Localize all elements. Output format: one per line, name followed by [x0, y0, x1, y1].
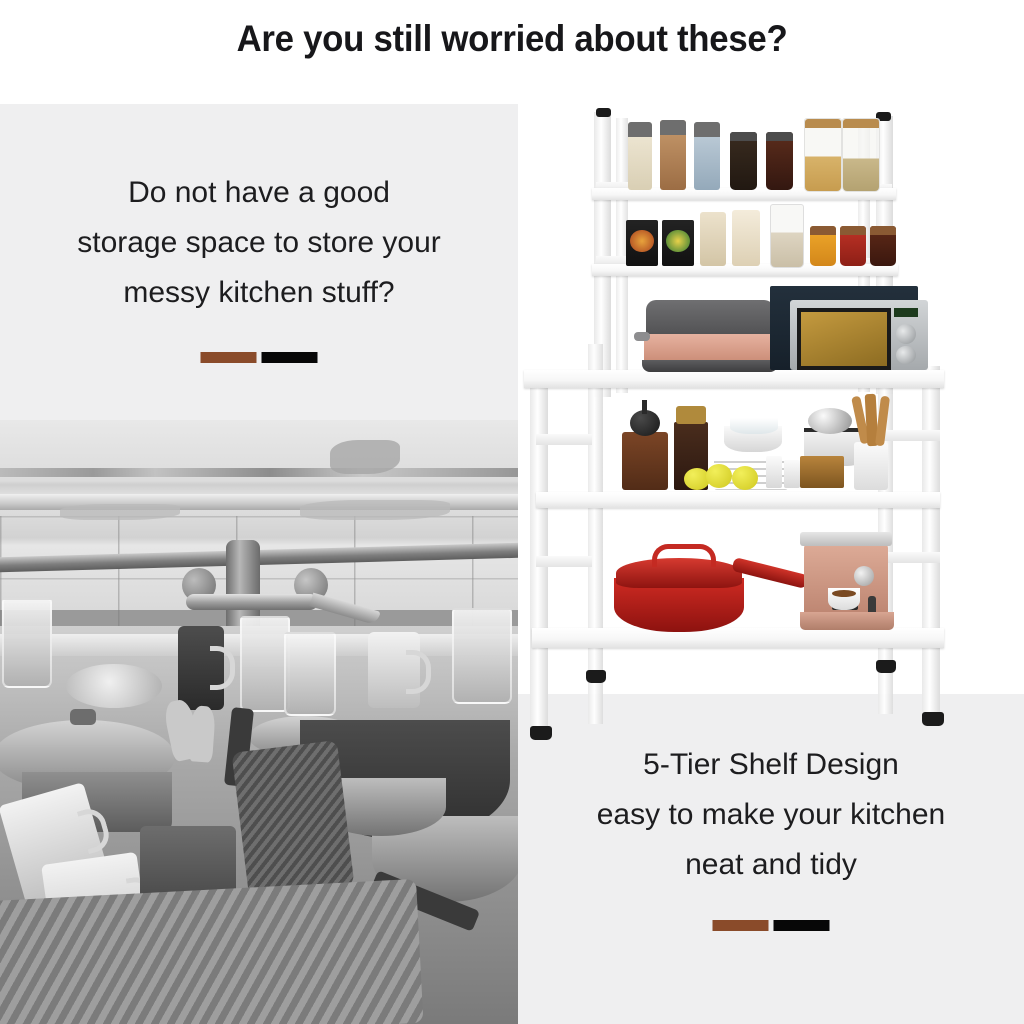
- jam-jar-red: [840, 226, 866, 266]
- canister-cocoa: [700, 212, 726, 266]
- glass-jar-pasta: [804, 118, 842, 192]
- canister-cream: [732, 210, 760, 266]
- jar-wooden-lid: [805, 119, 841, 128]
- canister-blue-gray: [694, 122, 720, 190]
- frosted-glass: [284, 632, 336, 716]
- grinder-crank-shaft: [642, 400, 647, 414]
- jam-jar-orange: [810, 226, 836, 266]
- canister-oatmeal-cream: [628, 122, 652, 190]
- problem-copy: Do not have a good storage space to stor…: [0, 168, 518, 318]
- lid-knob: [70, 709, 96, 725]
- microwave-display: [894, 308, 918, 317]
- solution-copy: 5-Tier Shelf Design easy to make your ki…: [518, 740, 1024, 890]
- jar-dark-tea: [730, 132, 757, 190]
- dark-mug: [178, 626, 224, 710]
- side-rail-left-lower: [536, 556, 592, 567]
- frame-post-rear-left: [588, 344, 603, 724]
- utensil-crock: [854, 442, 888, 490]
- drinking-glass: [240, 616, 290, 712]
- problem-divider: [201, 352, 318, 363]
- shelf-foot-rear-right: [876, 660, 896, 673]
- problem-panel: Do not have a good storage space to stor…: [0, 104, 518, 420]
- espresso-drip-tray: [800, 612, 894, 630]
- side-rail-right-lower: [884, 552, 940, 563]
- jar-lid: [766, 132, 793, 141]
- frame-post-front-left: [530, 372, 548, 732]
- french-press-lid: [676, 406, 706, 424]
- jar-lid: [730, 132, 757, 141]
- side-rail-left: [536, 434, 592, 445]
- dish-towel: [0, 879, 423, 1024]
- infographic-canvas: Are you still worried about these? Do no…: [0, 0, 1024, 1024]
- jam-lid: [870, 226, 896, 235]
- jam-lid: [810, 226, 836, 235]
- microwave-knob-lower: [896, 346, 916, 364]
- solution-line-2: easy to make your kitchen: [518, 790, 1024, 840]
- faucet-arm: [186, 594, 318, 610]
- problem-line-2: storage space to store your: [0, 218, 518, 268]
- jam-jar-dark: [870, 226, 896, 266]
- product-shelf-image: [518, 104, 1024, 694]
- frame-post-front-right: [922, 366, 940, 718]
- page-title: Are you still worried about these?: [31, 16, 994, 62]
- shelf-foot-rear-left: [586, 670, 606, 683]
- scrub-sponge: [231, 740, 354, 898]
- hutch-cap-left: [596, 108, 611, 117]
- solution-panel: 5-Tier Shelf Design easy to make your ki…: [518, 694, 1024, 1024]
- lemon: [732, 466, 758, 490]
- tall-glass: [452, 608, 512, 704]
- coffee-liquid: [832, 590, 856, 597]
- side-rail-right: [884, 430, 940, 441]
- condiment-shaker: [766, 456, 782, 488]
- solution-line-3: neat and tidy: [518, 840, 1024, 890]
- divider-black-bar: [262, 352, 318, 363]
- canister-lid: [628, 122, 652, 137]
- tea-box-emblem: [630, 230, 653, 252]
- jar-dark-preserve: [766, 132, 793, 190]
- glass-jar-grain: [842, 118, 880, 192]
- problem-line-3: messy kitchen stuff?: [0, 268, 518, 318]
- microwave-stainless-body: [790, 300, 928, 370]
- microwave-door-window: [797, 308, 891, 370]
- enamel-lid: [808, 408, 852, 434]
- tea-box-red: [626, 220, 658, 266]
- coffee-cup: [828, 588, 860, 610]
- solution-line-1: 5-Tier Shelf Design: [518, 740, 1024, 790]
- canister-lid: [694, 122, 720, 137]
- white-mug: [368, 632, 420, 708]
- tea-box-emblem: [666, 230, 689, 252]
- microwave-knob-upper: [896, 324, 916, 344]
- bowl-top: [730, 418, 778, 434]
- condiment-shaker: [784, 460, 800, 488]
- clip-jar-flour: [770, 204, 804, 268]
- divider-brown-bar: [713, 920, 769, 931]
- spoon: [188, 705, 216, 763]
- espresso-pressure-gauge: [854, 566, 874, 586]
- jar-wooden-lid: [843, 119, 879, 128]
- solution-divider: [713, 920, 830, 931]
- messy-kitchen-sink-photo: [0, 420, 518, 1024]
- shelf-foot-front-left: [530, 726, 552, 740]
- wall-crack: [0, 468, 518, 477]
- shelf-board-tier-5: [532, 628, 944, 648]
- white-plate: [66, 664, 162, 708]
- rice-cooker-handle: [634, 332, 650, 341]
- wok-lid-handle: [652, 544, 716, 567]
- divider-black-bar: [774, 920, 830, 931]
- tea-box-green: [662, 220, 694, 266]
- paint-peel: [330, 440, 400, 474]
- shelf-board-tier-3: [524, 370, 944, 388]
- problem-line-1: Do not have a good: [0, 168, 518, 218]
- shelf-foot-front-right: [922, 712, 944, 726]
- rice-cooker-base: [642, 360, 778, 372]
- paint-peel: [60, 504, 180, 520]
- shelf-board-tier-4: [536, 492, 940, 508]
- espresso-cup-warmer-top: [800, 532, 892, 546]
- lemon: [706, 464, 732, 488]
- paint-peel: [300, 500, 450, 520]
- canister-brown: [660, 120, 686, 190]
- glass-jar: [2, 598, 52, 688]
- coffee-grinder-wood: [622, 432, 668, 490]
- divider-brown-bar: [201, 352, 257, 363]
- wooden-box: [800, 456, 844, 488]
- jam-lid: [840, 226, 866, 235]
- canister-lid: [660, 120, 686, 135]
